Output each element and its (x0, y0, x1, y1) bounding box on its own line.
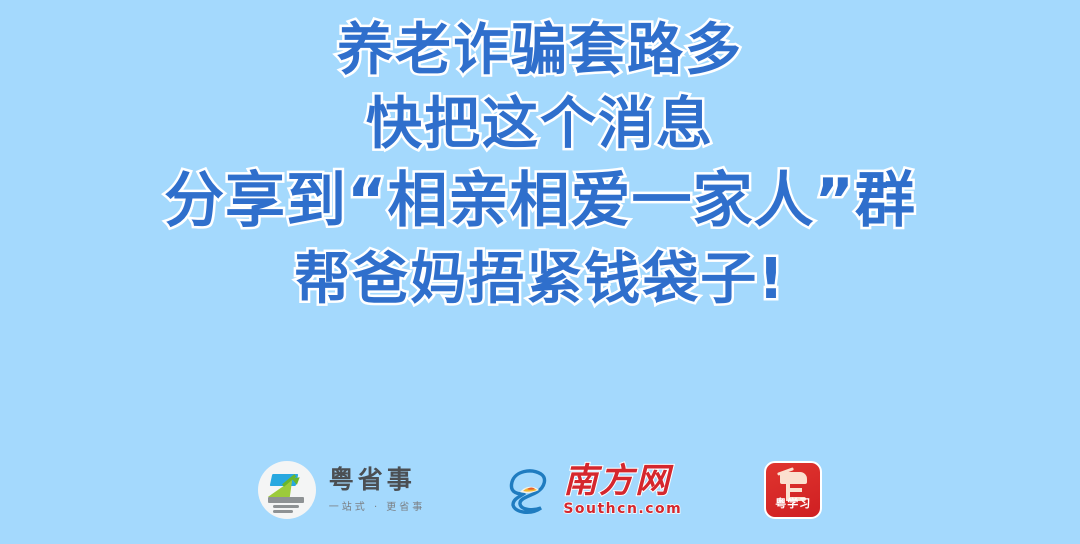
yuesheng-shi-name: 粤省事 (329, 467, 426, 493)
yue-xuexi-glyph-mid (786, 488, 802, 492)
yuesheng-shi-badge-icon (258, 461, 316, 519)
southcn-text: 南方网 Southcn.com (563, 464, 682, 517)
southcn-name: 南方网 (563, 464, 682, 498)
southcn-url: Southcn.com (563, 501, 682, 517)
headline-line-1: 养老诈骗套路多 (0, 18, 1080, 84)
yuesheng-shi-tagline: 一站式 · 更省事 (329, 498, 426, 513)
logo-yue-xuexi[interactable]: 粤学习 (764, 461, 822, 519)
southcn-swirl-icon (507, 465, 555, 515)
poster-canvas: 养老诈骗套路多 快把这个消息 分享到“相亲相爱一家人”群 帮爸妈捂紧钱袋子! 粤… (0, 0, 1080, 544)
yue-xuexi-glyph-top (780, 472, 807, 484)
yue-xuexi-label: 粤学习 (766, 495, 820, 511)
logo-row: 粤省事 一站式 · 更省事 南方网 Southcn.com 粤学 (0, 450, 1080, 530)
yuesheng-shi-text: 粤省事 一站式 · 更省事 (329, 467, 426, 513)
headline-line-4: 帮爸妈捂紧钱袋子! (0, 247, 1080, 313)
headline-line-2: 快把这个消息 (0, 92, 1080, 158)
logo-yuesheng-shi[interactable]: 粤省事 一站式 · 更省事 (258, 461, 426, 519)
headline-line-3: 分享到“相亲相爱一家人”群 (0, 166, 1080, 237)
logo-southcn[interactable]: 南方网 Southcn.com (507, 464, 682, 517)
headline-block: 养老诈骗套路多 快把这个消息 分享到“相亲相爱一家人”群 帮爸妈捂紧钱袋子! (0, 18, 1080, 313)
